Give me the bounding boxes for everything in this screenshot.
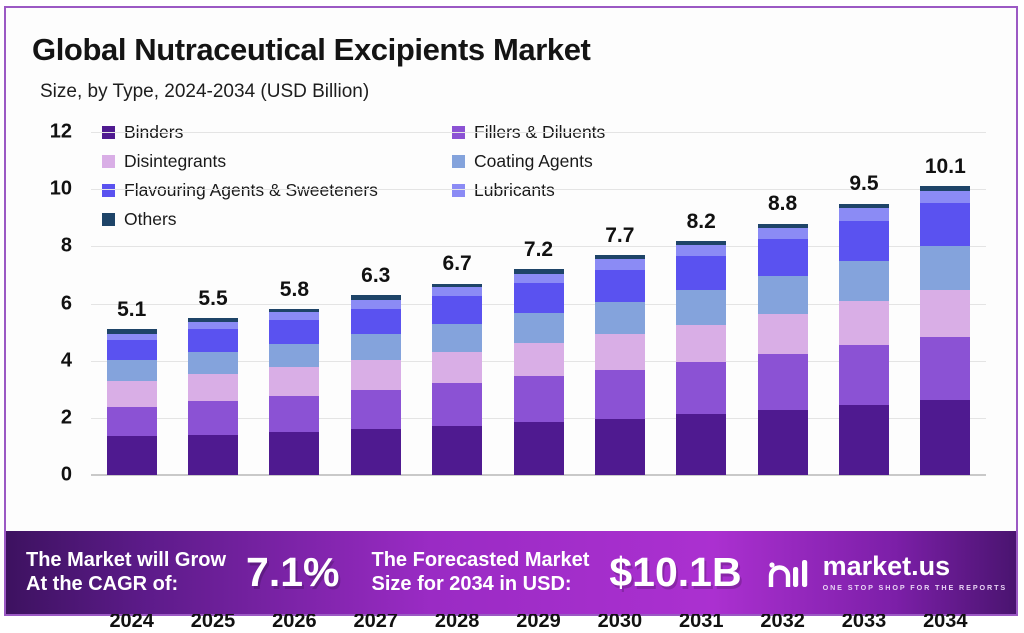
forecast-value: $10.1B [609,549,741,596]
bar-segment [920,337,970,400]
bar-segment [269,367,319,396]
forecast-label-line1: The Forecasted Market [372,549,590,573]
forecast-label-line2: Size for 2034 in USD: [372,573,590,597]
bar-segment [107,381,157,407]
bar-stack-2030[interactable] [595,255,645,475]
bar-value-label: 5.5 [198,287,227,311]
bar-segment [839,221,889,261]
footer-banner: The Market will Grow At the CAGR of: 7.1… [6,531,1016,614]
market-us-logo[interactable]: market.us ONE STOP SHOP FOR THE REPORTS [768,553,1008,592]
bar-segment [595,302,645,334]
bar-segment [432,287,482,296]
bar-segment [839,208,889,221]
bar-segment [595,334,645,370]
y-axis-tick-label: 2 [32,406,72,429]
logo-chart-icon [768,556,814,590]
infographic-frame: Global Nutraceutical Excipients Market S… [4,6,1018,616]
bar-segment [758,239,808,276]
bar-segment [595,419,645,475]
bar-segment [595,259,645,270]
bar-segment [676,362,726,413]
bar-stack-2031[interactable] [676,241,726,475]
bar-segment [920,290,970,337]
bar-segment [514,283,564,313]
page-subtitle: Size, by Type, 2024-2034 (USD Billion) [40,81,369,103]
bar-segment [676,256,726,291]
bar-segment [758,228,808,239]
bar-stack-2034[interactable] [920,186,970,475]
bar-segment [188,352,238,374]
bar-stack-2026[interactable] [269,309,319,475]
bar-segment [107,340,157,361]
bar-segment [269,396,319,432]
plot-area: 5.120245.520255.820266.320276.720287.220… [91,132,986,475]
bar-value-label: 8.8 [768,192,797,216]
cagr-value: 7.1% [246,549,339,596]
bar-segment [188,322,238,329]
bar-segment [269,344,319,367]
page-title: Global Nutraceutical Excipients Market [32,32,590,68]
y-axis-tick-label: 12 [32,121,72,144]
y-axis: 024681012 [24,132,72,475]
bar-segment [514,274,564,283]
gridline [91,132,986,133]
bar-segment [595,270,645,303]
bar-segment [920,246,970,289]
bar-stack-2027[interactable] [351,295,401,475]
bar-value-label: 9.5 [849,172,878,196]
bar-segment [188,374,238,401]
bar-stack-2029[interactable] [514,269,564,475]
bar-value-label: 8.2 [687,210,716,234]
bar-value-label: 10.1 [925,155,966,179]
bar-segment [188,329,238,351]
bar-value-label: 6.7 [443,252,472,276]
bar-segment [839,345,889,405]
cagr-label-line2: At the CAGR of: [26,573,226,597]
bar-segment [514,376,564,422]
bar-segment [432,426,482,475]
bar-value-label: 5.1 [117,298,146,322]
bar-segment [432,296,482,324]
bar-segment [758,410,808,475]
bar-segment [595,370,645,419]
cagr-label-line1: The Market will Grow [26,549,226,573]
bar-segment [920,191,970,204]
bar-stack-2028[interactable] [432,284,482,475]
bar-segment [514,422,564,475]
cagr-block: The Market will Grow At the CAGR of: [26,549,226,596]
bar-segment [269,312,319,319]
y-axis-tick-label: 4 [32,349,72,372]
bar-value-label: 5.8 [280,278,309,302]
bar-segment [920,203,970,246]
forecast-block: The Forecasted Market Size for 2034 in U… [372,549,590,596]
bar-segment [351,309,401,335]
bar-stack-2025[interactable] [188,318,238,475]
bar-segment [269,432,319,475]
bar-segment [758,354,808,410]
logo-wordmark: market.us [823,553,1008,580]
bar-value-label: 7.2 [524,238,553,262]
bar-segment [676,245,726,256]
bar-segment [839,261,889,302]
bar-segment [432,383,482,426]
bar-stack-2033[interactable] [839,204,889,475]
bar-segment [432,324,482,351]
bar-segment [676,414,726,475]
bar-segment [107,360,157,381]
y-axis-tick-label: 0 [32,464,72,487]
logo-tagline: ONE STOP SHOP FOR THE REPORTS [823,583,1008,592]
bar-segment [839,405,889,475]
bar-segment [839,301,889,344]
bar-segment [351,429,401,475]
bar-segment [676,325,726,363]
bar-segment [514,313,564,343]
chart-card: Global Nutraceutical Excipients Market S… [6,8,1016,529]
y-axis-tick-label: 10 [32,178,72,201]
bar-segment [107,436,157,475]
bar-segment [758,276,808,313]
bar-segment [188,401,238,435]
bar-segment [676,290,726,324]
bar-segment [351,390,401,429]
bar-segment [758,314,808,355]
bar-segment [351,360,401,390]
bar-segment [432,352,482,383]
bar-segment [514,343,564,377]
y-axis-tick-label: 6 [32,292,72,315]
bar-stack-2024[interactable] [107,329,157,475]
bar-segment [920,400,970,475]
bar-value-label: 6.3 [361,264,390,288]
bar-segment [269,320,319,344]
y-axis-tick-label: 8 [32,235,72,258]
bar-segment [351,334,401,360]
bar-segment [351,300,401,309]
bar-stack-2032[interactable] [758,224,808,475]
bar-segment [188,435,238,475]
bar-value-label: 7.7 [605,224,634,248]
bar-segment [107,407,157,436]
